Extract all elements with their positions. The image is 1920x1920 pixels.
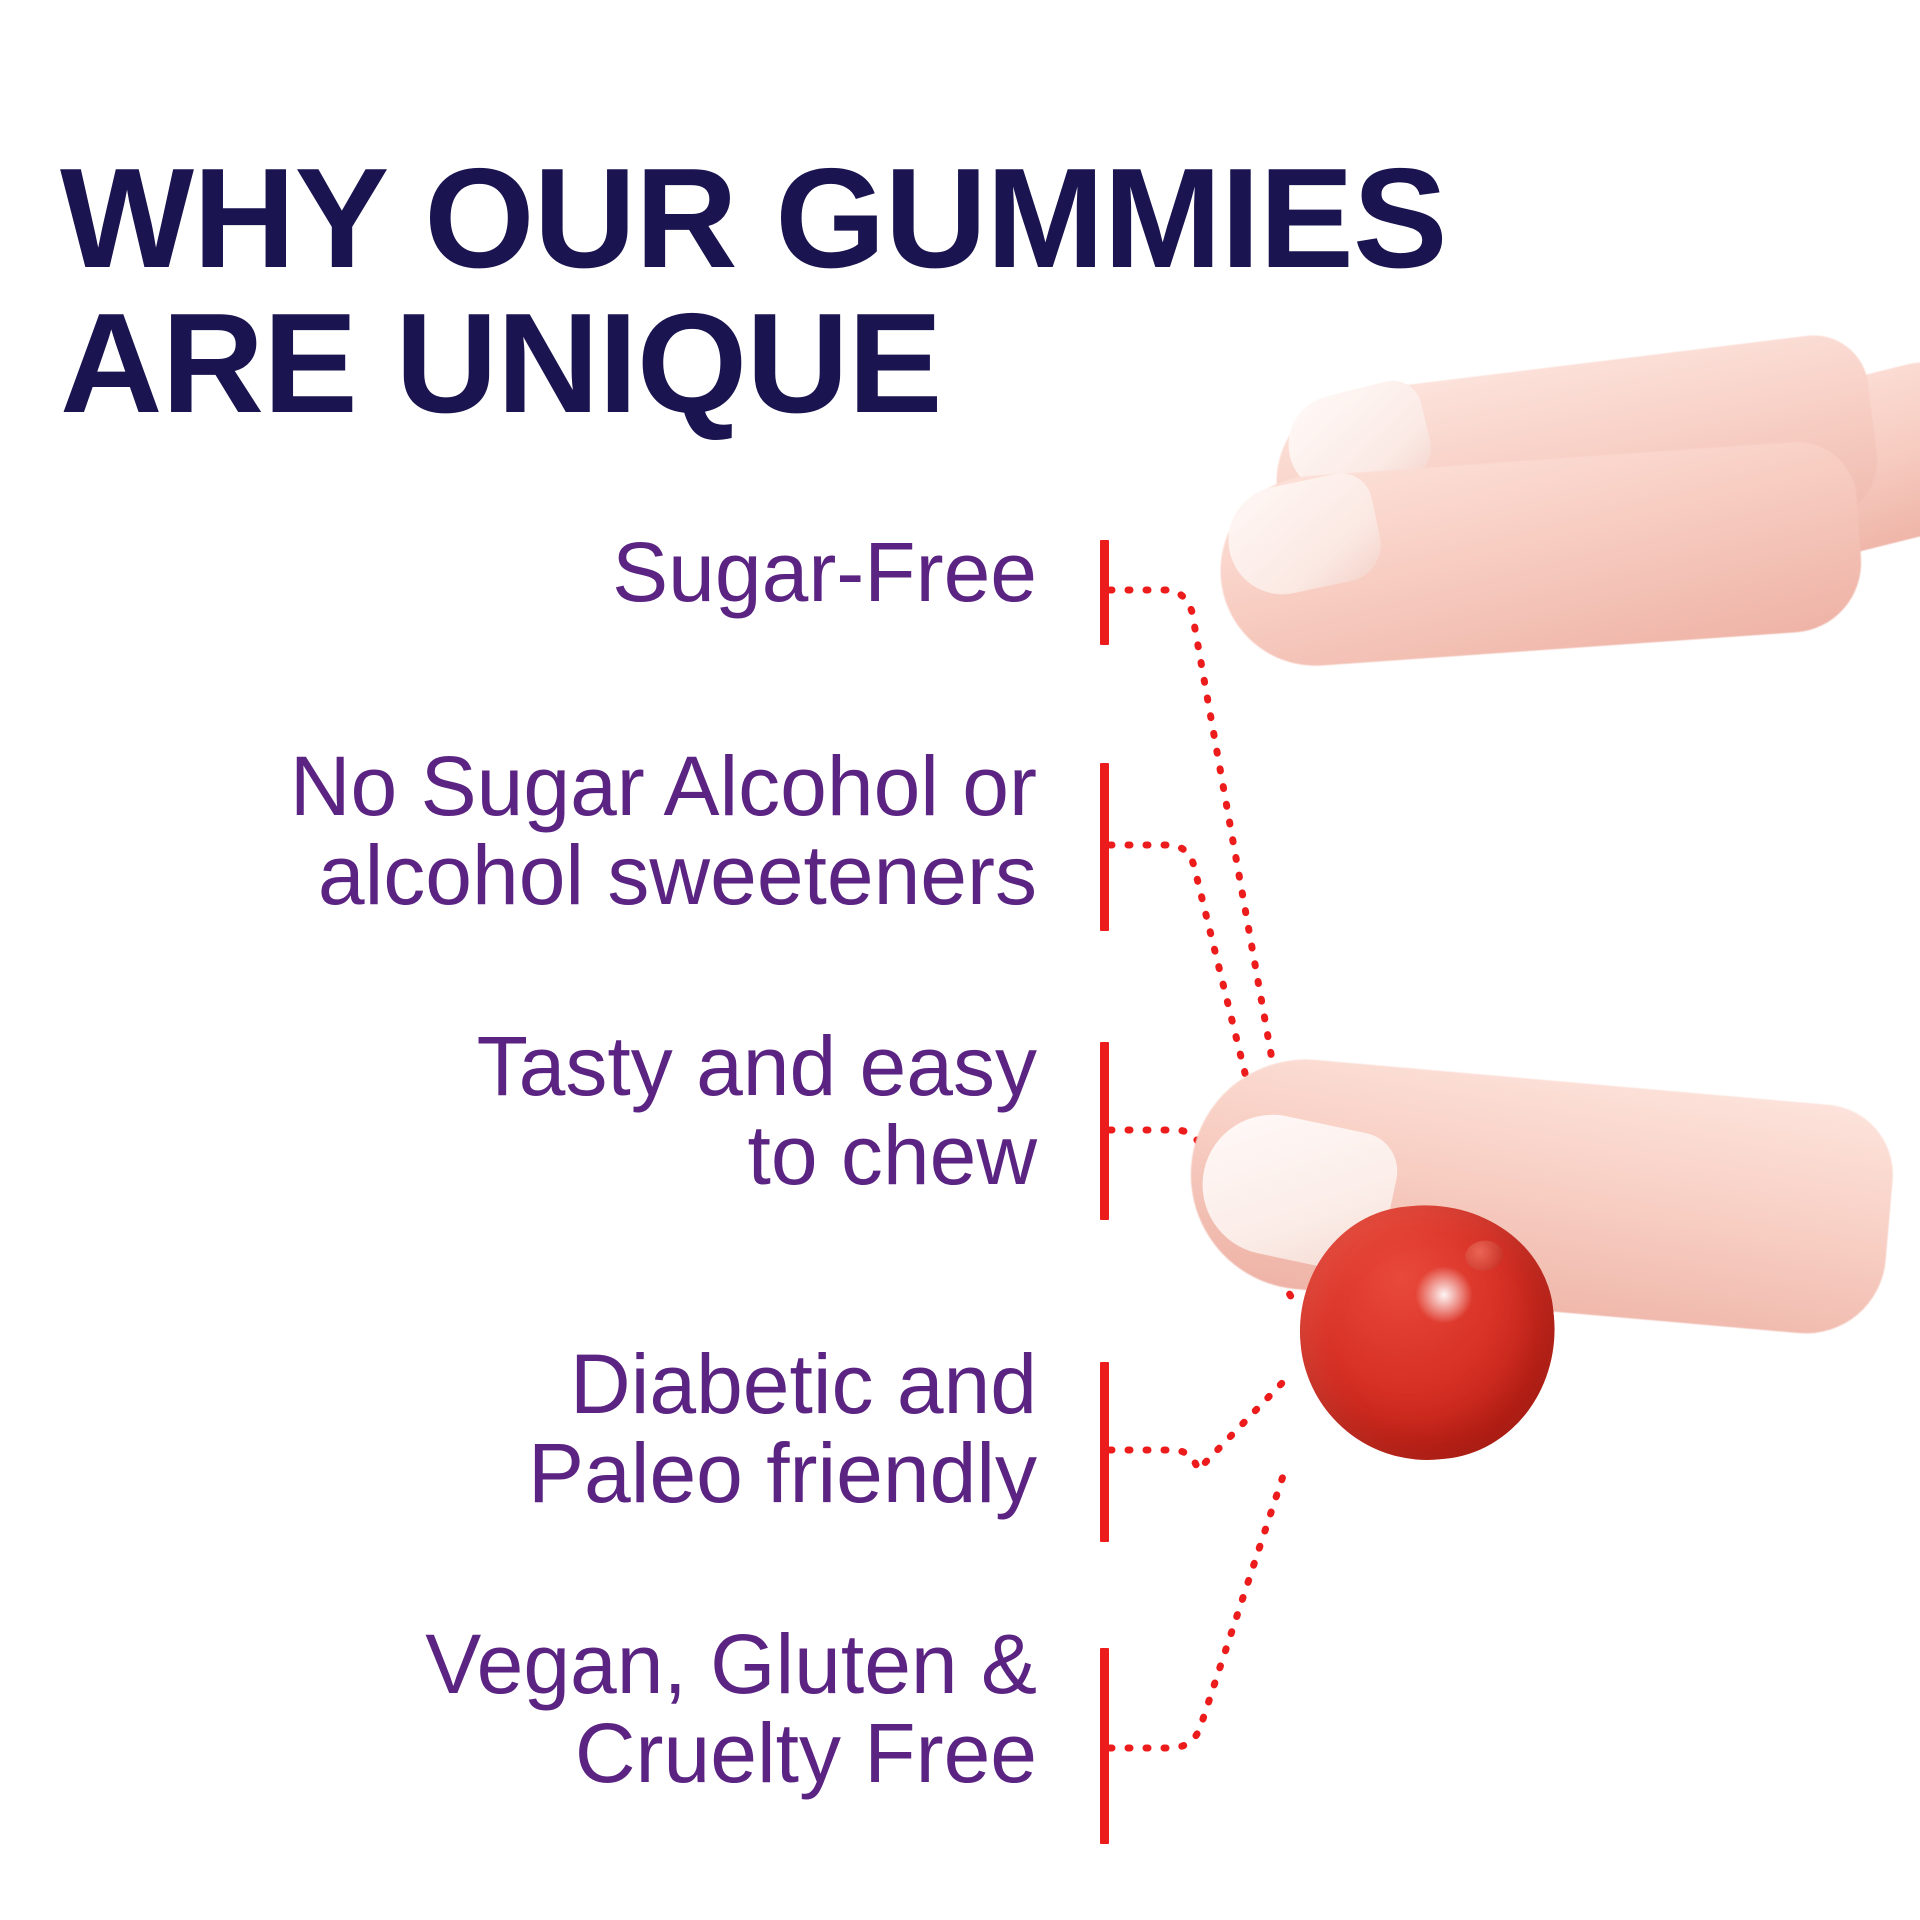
tick-bar-tasty-easy-to-chew [1100,1042,1109,1220]
feature-item-tasty-easy-to-chew: Tasty and easy to chew [0,1022,1075,1200]
gummy-dimple [1464,1239,1505,1273]
feature-item-no-sugar-alcohol: No Sugar Alcohol or alcohol sweeteners [0,742,1075,920]
tick-bar-sugar-free [1100,540,1109,645]
tick-bar-vegan-gluten-cruelty [1100,1648,1109,1844]
hand-holding-gummy [1180,420,1920,1620]
feature-item-sugar-free: Sugar-Free [0,528,1075,617]
feature-list: Sugar-Free No Sugar Alcohol or alcohol s… [0,0,1075,1920]
feature-item-vegan-gluten-cruelty: Vegan, Gluten & Cruelty Free [0,1620,1075,1798]
tick-bar-no-sugar-alcohol [1100,763,1109,931]
feature-item-diabetic-paleo: Diabetic and Paleo friendly [0,1340,1075,1518]
promo-graphic: WHY OUR GUMMIES ARE UNIQUE Sugar-Free No… [0,0,1920,1920]
tick-bar-diabetic-paleo [1100,1362,1109,1542]
